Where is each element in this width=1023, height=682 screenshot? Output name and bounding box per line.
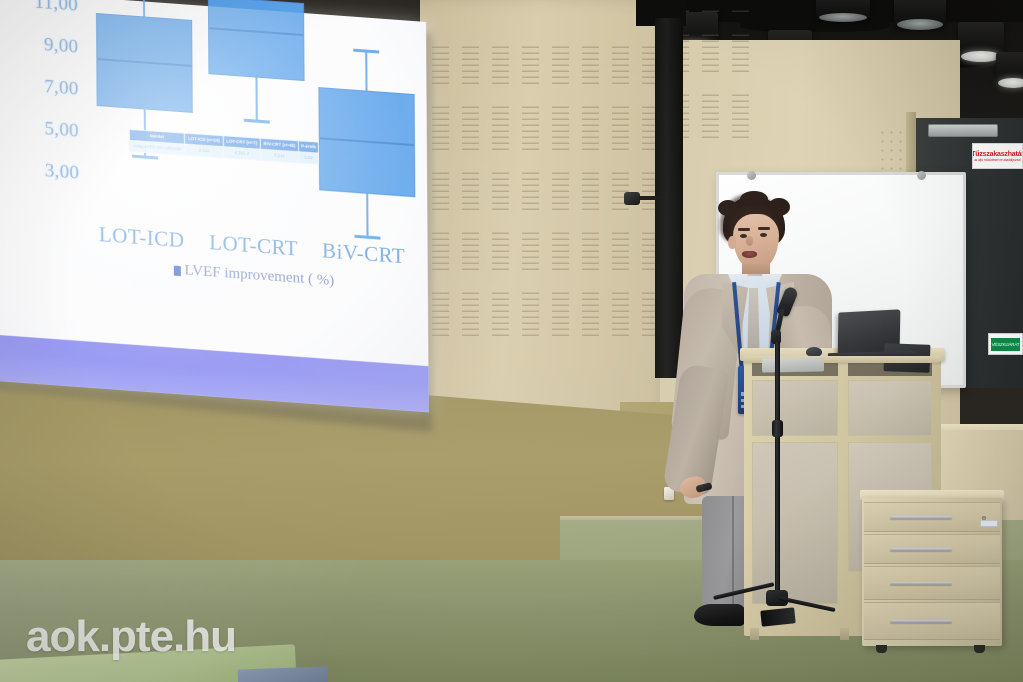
legend-swatch-icon — [173, 265, 180, 276]
whisker-upper-LOT-ICD — [143, 0, 145, 16]
podium-panel-2 — [848, 380, 932, 436]
sensor-rod — [639, 196, 665, 200]
whisker-lower-BiV-CRT — [366, 194, 368, 236]
drawer-handle-2[interactable] — [890, 548, 952, 551]
drawer-2[interactable] — [864, 534, 1000, 564]
door-closer-arm — [928, 124, 998, 137]
median-LOT-ICD — [97, 58, 191, 67]
whisker-upper-BiV-CRT — [365, 49, 367, 91]
trouser-crease — [732, 496, 734, 614]
y-tick-9: 9,00 — [0, 31, 78, 59]
podium-leg-left — [750, 628, 759, 640]
drawer-1[interactable] — [864, 502, 1000, 532]
ear — [728, 236, 736, 249]
sensor-head-icon — [624, 192, 640, 205]
td-biv-crt: 7,1±1 — [260, 149, 298, 163]
x-label-lot-icd: LOT-ICD — [84, 221, 200, 254]
podium-panel-1 — [752, 380, 838, 436]
watermark: aok.pte.hu — [26, 612, 236, 662]
drawer-3[interactable] — [864, 566, 1000, 600]
ceiling-lamp-6 — [894, 0, 946, 28]
foreground-blue-object — [238, 666, 329, 682]
shoe — [694, 604, 746, 626]
drawer-pedestal — [862, 498, 1002, 646]
box-LOT-ICD — [96, 13, 193, 113]
y-tick-11: 11,00 — [0, 0, 78, 17]
drawer-handle-3[interactable] — [890, 582, 952, 585]
mouth — [742, 251, 757, 258]
boxplot-lot-crt — [208, 0, 306, 233]
y-axis: 13,00 11,00 9,00 7,00 5,00 3,00 — [0, 0, 80, 217]
median-BiV-CRT — [320, 137, 414, 146]
box-BiV-CRT — [319, 87, 416, 197]
podium-panel-3 — [752, 442, 838, 604]
hair-tuft-top — [740, 191, 768, 207]
y-tick-3: 3,00 — [1, 157, 79, 185]
whisker-cap-lower-LOT-CRT — [244, 119, 270, 124]
hair-tuft-right — [768, 198, 790, 216]
whisker-lower-LOT-CRT — [255, 78, 257, 120]
td-pvalue: 0,02 — [299, 151, 319, 164]
y-tick-7: 7,00 — [1, 73, 79, 101]
plot-area — [82, 0, 424, 242]
fire-sign-subtitle: az ajtó működését ne akadályozza! — [974, 158, 1021, 162]
boxplot-lot-icd — [96, 0, 194, 225]
fire-sign-title: Tűzszakaszhatár — [972, 151, 1023, 158]
y-tick-5: 5,00 — [1, 115, 79, 143]
eyebrow-left — [738, 228, 750, 231]
emergency-exit-sign: VÉSZKIJÁRAT — [988, 333, 1023, 355]
fire-compartment-sign: Tűzszakaszhatár az ajtó működését ne aka… — [972, 143, 1023, 169]
median-LOT-CRT — [209, 27, 303, 36]
box-LOT-CRT — [208, 0, 305, 82]
nose — [746, 236, 753, 246]
keyboard[interactable] — [762, 357, 824, 372]
x-label-biv-crt: BiV-CRT — [306, 237, 422, 270]
eye-right — [760, 233, 767, 237]
ceiling-lamp-4 — [816, 0, 870, 20]
presentation-slide: 13,00 11,00 9,00 7,00 5,00 3,00 LOT-ICD … — [0, 0, 429, 412]
exit-sign-text: VÉSZKIJÁRAT — [991, 338, 1020, 351]
eyebrow-right — [758, 227, 770, 230]
microphone-height-collar[interactable] — [772, 420, 783, 437]
whiteboard-mount-right — [917, 171, 926, 180]
drawer-handle-1[interactable] — [890, 516, 952, 519]
td-lot-crt: 4,3±1,4 — [223, 146, 260, 160]
hair-tuft-left — [718, 200, 738, 216]
drawer-4[interactable] — [864, 602, 1000, 640]
pedestal-label — [980, 520, 998, 527]
boxplot-biv-crt — [318, 0, 416, 241]
whisker-cap-lower-BiV-CRT — [355, 234, 381, 239]
whisker-cap-lower-LOT-ICD — [132, 155, 158, 160]
drawer-handle-4[interactable] — [890, 620, 952, 623]
wall-text-pattern-right — [672, 8, 750, 138]
ceiling-lamp-8 — [996, 52, 1023, 86]
td-lot-icd: 9,5±2 — [185, 144, 223, 158]
face — [733, 214, 779, 270]
caster-left — [876, 645, 887, 653]
wall-text-pattern-left — [432, 26, 664, 336]
projection-screen: 13,00 11,00 9,00 7,00 5,00 3,00 LOT-ICD … — [0, 0, 429, 412]
caster-right — [974, 645, 985, 653]
wall-sensor-arm — [624, 192, 664, 204]
ceiling-rail-center — [740, 18, 890, 32]
boxplot-chart: 13,00 11,00 9,00 7,00 5,00 3,00 LOT-ICD … — [0, 0, 428, 318]
microphone-stand-pole[interactable] — [775, 342, 780, 598]
x-label-lot-crt: LOT-CRT — [196, 229, 312, 262]
podium-leg-center — [840, 628, 849, 640]
conference-room-photo: Tűzszakaszhatár az ajtó működését ne aka… — [0, 0, 1023, 682]
whiteboard-mount-left — [747, 171, 756, 180]
